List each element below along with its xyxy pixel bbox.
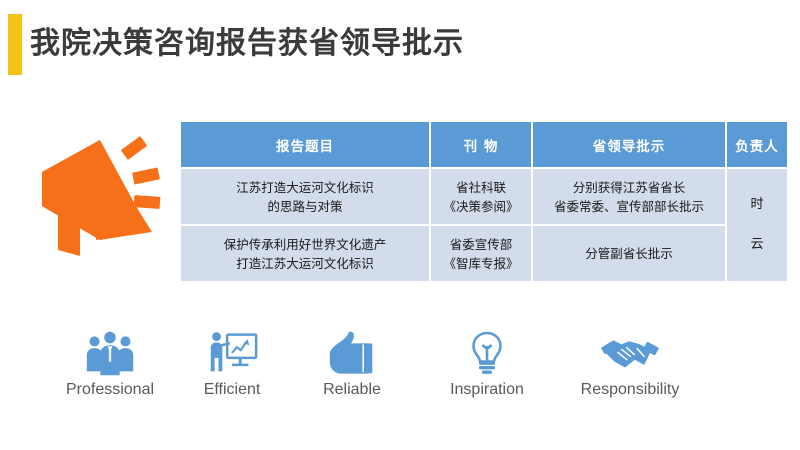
- column-header-journal: 刊 物: [431, 122, 531, 167]
- owner-name-2: 云: [731, 225, 783, 265]
- cell-leader-note: 分别获得江苏省省长 省委常委、宣传部部长批示: [533, 169, 725, 224]
- table-row: 保护传承利用好世界文化遗产 打造江苏大运河文化标识 省委宣传部 《智库专报》 分…: [181, 226, 787, 281]
- table-row: 江苏打造大运河文化标识 的思路与对策 省社科联 《决策参阅》 分别获得江苏省省长…: [181, 169, 787, 224]
- report-title-line-2: 打造江苏大运河文化标识: [236, 256, 374, 271]
- thumbs-up-icon: [277, 330, 427, 376]
- page-title: 我院决策咨询报告获省领导批示: [30, 18, 464, 70]
- cell-leader-note: 分管副省长批示: [533, 226, 725, 281]
- value-icons-strip: Professional Efficient: [40, 330, 740, 410]
- value-label: Inspiration: [412, 380, 562, 400]
- column-header-report-title: 报告题目: [181, 122, 429, 167]
- column-header-owner: 负责人: [727, 122, 787, 167]
- journal-line-1: 省委宣传部: [450, 237, 513, 252]
- megaphone-icon: [34, 128, 170, 260]
- handshake-icon: [555, 330, 705, 376]
- value-item-responsibility: Responsibility: [555, 330, 705, 400]
- report-title-line-1: 江苏打造大运河文化标识: [236, 180, 374, 195]
- value-item-inspiration: Inspiration: [412, 330, 562, 400]
- leader-note-line-1: 分管副省长批示: [585, 246, 673, 261]
- leader-note-line-2: 省委常委、宣传部部长批示: [554, 199, 704, 214]
- cell-journal: 省社科联 《决策参阅》: [431, 169, 531, 224]
- cell-report-title: 江苏打造大运河文化标识 的思路与对策: [181, 169, 429, 224]
- report-title-line-1: 保护传承利用好世界文化遗产: [224, 237, 387, 252]
- table-header-row: 报告题目 刊 物 省领导批示 负责人: [181, 122, 787, 167]
- lightbulb-icon: [412, 330, 562, 376]
- owner-name-1: 时: [731, 185, 783, 225]
- cell-report-title: 保护传承利用好世界文化遗产 打造江苏大运河文化标识: [181, 226, 429, 281]
- leader-note-line-1: 分别获得江苏省省长: [573, 180, 686, 195]
- cell-owner-merged: 时 云: [727, 169, 787, 281]
- value-label: Reliable: [277, 380, 427, 400]
- journal-line-1: 省社科联: [456, 180, 506, 195]
- column-header-leader-note: 省领导批示: [533, 122, 725, 167]
- reports-table: 报告题目 刊 物 省领导批示 负责人 江苏打造大运河文化标识 的思路与对策 省社…: [179, 120, 789, 283]
- journal-line-2: 《决策参阅》: [443, 199, 518, 214]
- value-label: Responsibility: [555, 380, 705, 400]
- value-item-reliable: Reliable: [277, 330, 427, 400]
- cell-journal: 省委宣传部 《智库专报》: [431, 226, 531, 281]
- journal-line-2: 《智库专报》: [443, 256, 518, 271]
- title-accent-bar: [8, 14, 22, 75]
- report-title-line-2: 的思路与对策: [267, 199, 342, 214]
